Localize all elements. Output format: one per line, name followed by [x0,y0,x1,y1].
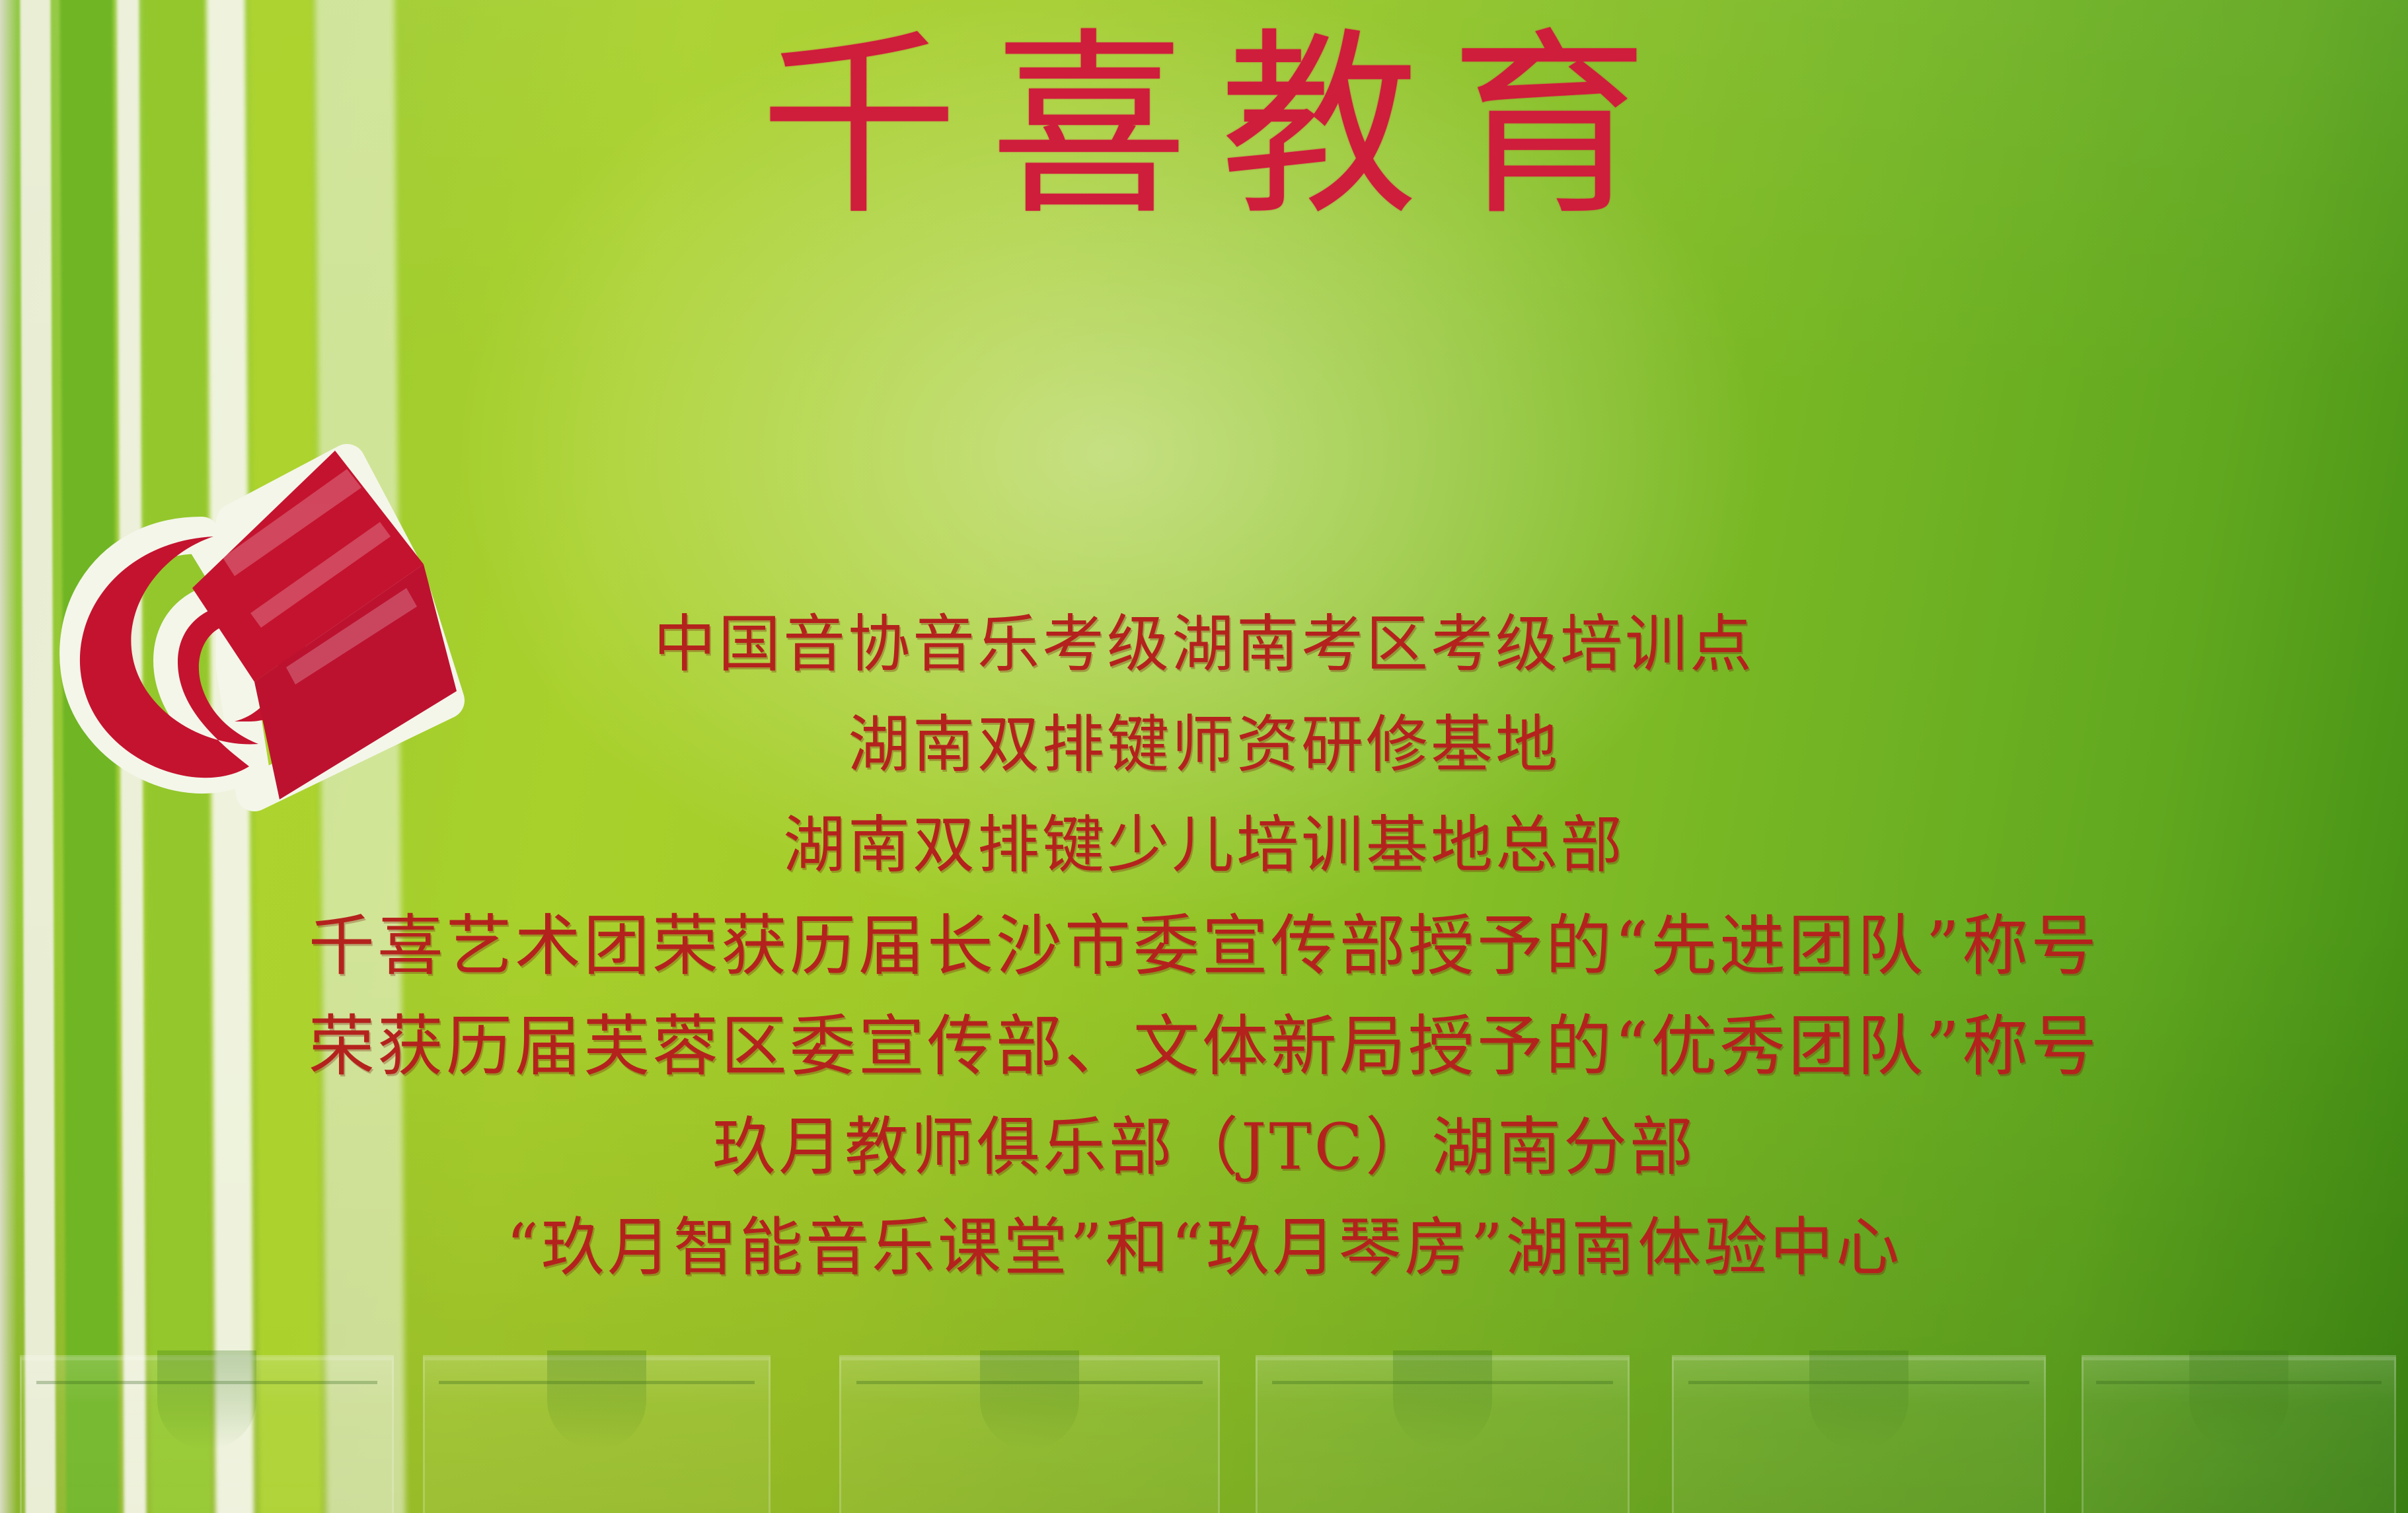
brochure-holder[interactable] [2082,1355,2396,1513]
credential-line: 玖月教师俱乐部（JTC）湖南分部 [0,1097,2408,1197]
credentials-list: 中国音协音乐考级湖南考区考级培训点 湖南双排键师资研修基地 湖南双排键少儿培训基… [0,595,2408,1298]
credential-line: “玖月智能音乐课堂”和“玖月琴房”湖南体验中心 [0,1197,2408,1298]
brochure-holder[interactable] [1256,1355,1630,1513]
credential-line: 荣获历届芙蓉区委宣传部、文体新局授予的“优秀团队”称号 [0,996,2408,1097]
credential-line: 湖南双排键少儿培训基地总部 [0,795,2408,896]
sign-title: 千喜教育 [0,28,2408,226]
brochure-holder[interactable] [423,1355,771,1513]
brochure-holder[interactable] [839,1355,1220,1513]
credential-line: 湖南双排键师资研修基地 [0,695,2408,795]
brochure-holder[interactable] [20,1355,394,1513]
credential-line: 中国音协音乐考级湖南考区考级培训点 [0,595,2408,695]
brochure-holder[interactable] [1672,1355,2046,1513]
brochure-holder-row [0,1315,2408,1513]
signage-photo: 千喜教育 中国音协音乐考级湖南考区考级培训点 湖南双排键师资研修基地 湖南双排键… [0,0,2408,1513]
credential-line: 千喜艺术团荣获历届长沙市委宣传部授予的“先进团队”称号 [0,896,2408,996]
